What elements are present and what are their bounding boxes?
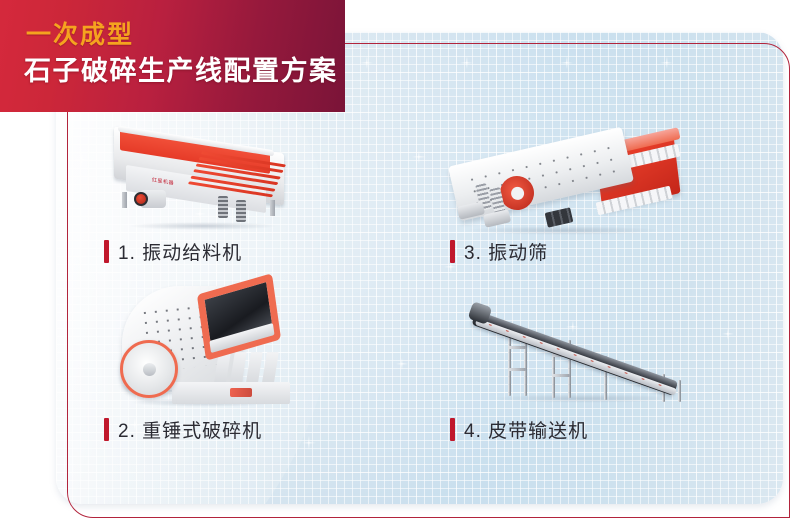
conveyor-shadow — [490, 394, 680, 403]
item-label-text: 2. 重锤式破碎机 — [118, 416, 262, 443]
item-label-1: 1. 振动给料机 — [104, 238, 242, 265]
label-marker-bar — [104, 418, 109, 441]
item-vibrating-screen[interactable] — [448, 122, 693, 240]
poster-root: 红星机器 1. 振动给料机 2. 重锤式 — [0, 0, 800, 530]
banner-title: 石子破碎生产线配置方案 — [24, 58, 338, 85]
belt-conveyor-illustration — [472, 288, 702, 408]
feeder-motor — [140, 190, 166, 208]
screen-drive-block — [545, 207, 574, 227]
conveyor-cross-brace — [508, 368, 526, 371]
screen-shadow — [464, 226, 662, 235]
label-marker-bar — [104, 240, 109, 263]
banner-subtitle: 一次成型 — [26, 23, 134, 48]
crusher-base — [172, 382, 290, 404]
conveyor-leg — [678, 380, 681, 402]
item-label-3: 3. 振动筛 — [450, 238, 548, 265]
conveyor-leg — [508, 330, 511, 396]
item-belt-conveyor[interactable] — [472, 288, 704, 410]
item-hammer-crusher[interactable] — [112, 278, 307, 410]
item-vibrating-feeder[interactable]: 红星机器 — [100, 130, 315, 240]
item-label-4: 4. 皮带输送机 — [450, 416, 588, 443]
label-marker-bar — [450, 418, 455, 441]
title-banner: 一次成型 石子破碎生产线配置方案 — [0, 0, 345, 112]
feeder-spring — [236, 200, 246, 222]
feeder-leg — [122, 192, 127, 208]
feeder-spring — [218, 196, 228, 218]
conveyor-cross-brace — [552, 374, 570, 377]
crusher-flywheel — [120, 340, 178, 398]
item-label-text: 4. 皮带输送机 — [464, 416, 588, 443]
item-label-2: 2. 重锤式破碎机 — [104, 416, 262, 443]
vibrating-screen-illustration — [448, 122, 688, 237]
label-marker-bar — [450, 240, 455, 263]
vibrating-feeder-illustration: 红星机器 — [100, 130, 310, 230]
item-label-text: 1. 振动给料机 — [118, 238, 242, 265]
feeder-shadow — [128, 222, 278, 230]
conveyor-cross-brace — [508, 346, 526, 349]
hammer-crusher-illustration — [112, 278, 302, 408]
feeder-leg — [270, 200, 275, 216]
item-label-text: 3. 振动筛 — [464, 238, 548, 265]
